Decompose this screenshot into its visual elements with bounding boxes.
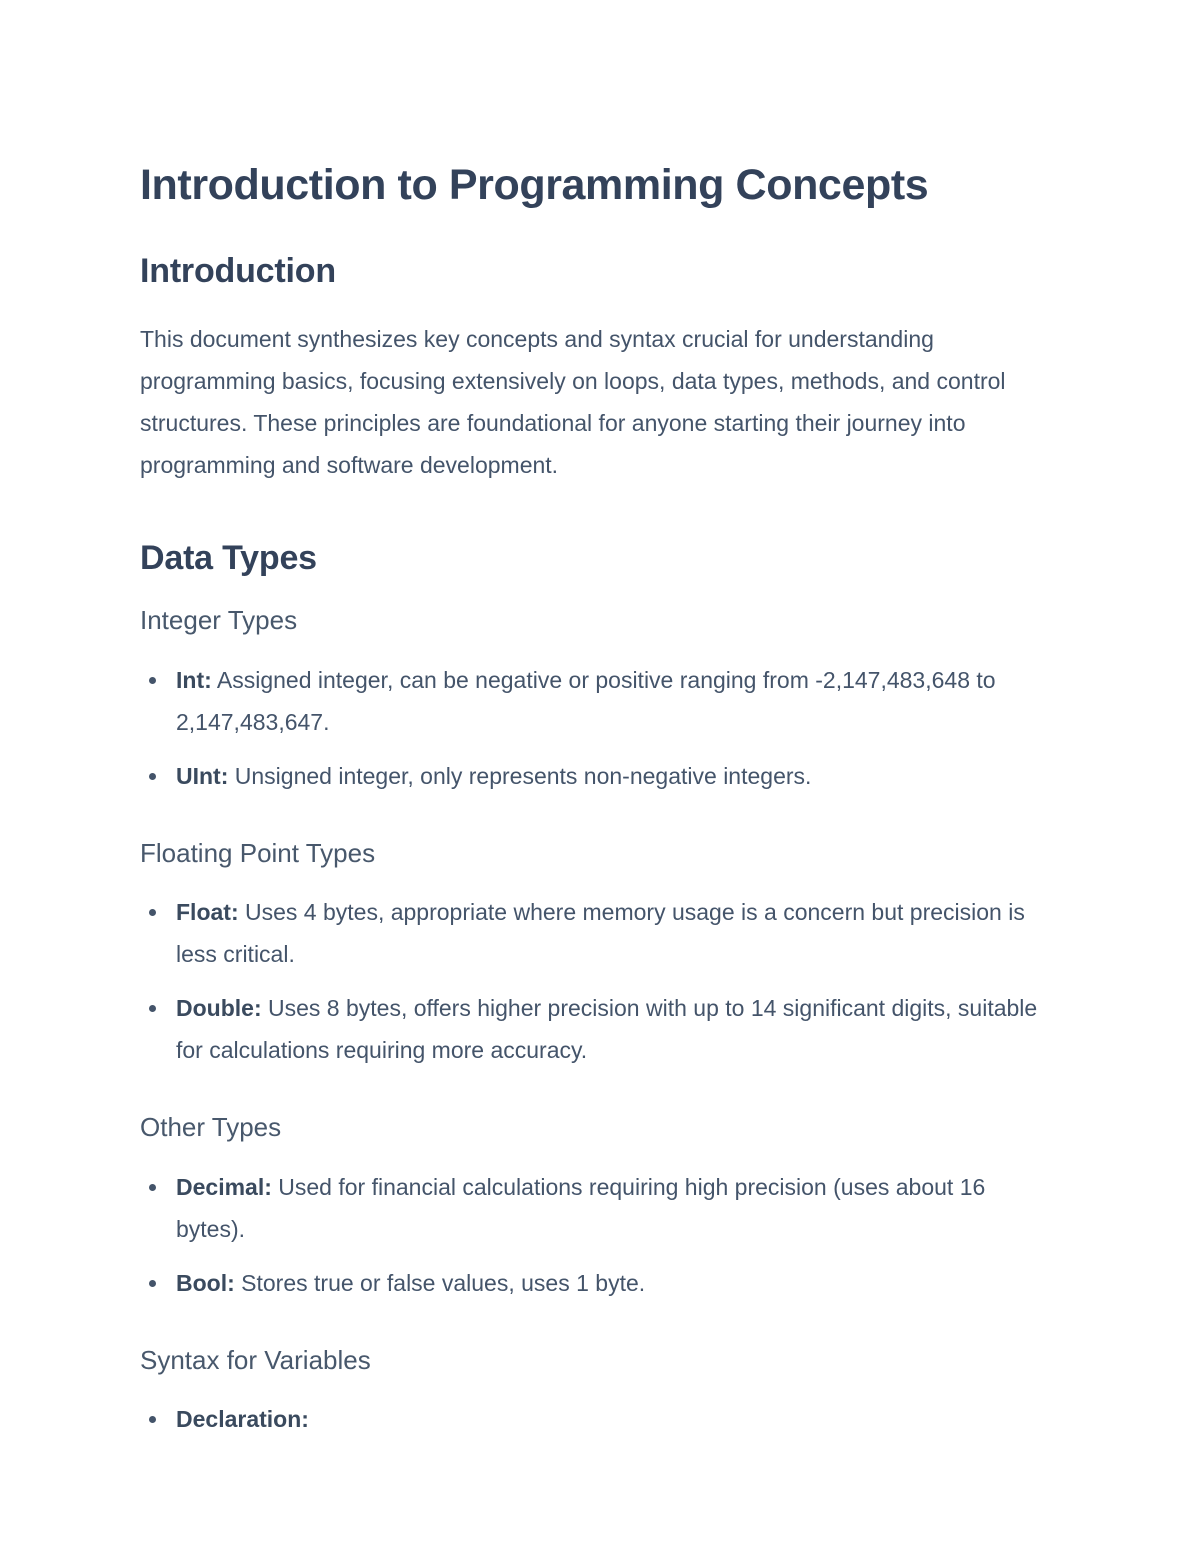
list-item-term: Declaration: [176, 1406, 309, 1432]
bullet-disc-icon [149, 909, 156, 916]
list-syntax-for-variables: Declaration: [140, 1398, 1045, 1440]
list-item: Int: Assigned integer, can be negative o… [140, 659, 1045, 743]
bullet-disc-icon [149, 1184, 156, 1191]
section-heading-data-types: Data Types [140, 538, 1045, 579]
subsection-heading-syntax-for-variables: Syntax for Variables [140, 1344, 1045, 1377]
bullet-disc-icon [149, 1005, 156, 1012]
list-item-text: Uses 8 bytes, offers higher precision wi… [176, 995, 1037, 1063]
introduction-paragraph: This document synthesizes key concepts a… [140, 318, 1045, 486]
list-item-term: Int: [176, 667, 212, 693]
bullet-disc-icon [149, 1416, 156, 1423]
list-item: Float: Uses 4 bytes, appropriate where m… [140, 891, 1045, 975]
subsection-heading-floating-point-types: Floating Point Types [140, 837, 1045, 870]
list-item-text: Used for financial calculations requirin… [176, 1174, 985, 1242]
list-item-term: Decimal: [176, 1174, 272, 1200]
bullet-disc-icon [149, 773, 156, 780]
list-item-term: Float: [176, 899, 239, 925]
list-item-term: Double: [176, 995, 262, 1021]
page-title: Introduction to Programming Concepts [140, 160, 1045, 211]
list-item: Double: Uses 8 bytes, offers higher prec… [140, 987, 1045, 1071]
list-floating-point-types: Float: Uses 4 bytes, appropriate where m… [140, 891, 1045, 1071]
list-integer-types: Int: Assigned integer, can be negative o… [140, 659, 1045, 797]
subsection-heading-other-types: Other Types [140, 1111, 1045, 1144]
list-item-text: Unsigned integer, only represents non-ne… [228, 763, 811, 789]
section-data-types: Data Types Integer Types Int: Assigned i… [140, 538, 1045, 1441]
document-page: Introduction to Programming Concepts Int… [0, 0, 1200, 1553]
list-item-term: Bool: [176, 1270, 235, 1296]
bullet-disc-icon [149, 677, 156, 684]
list-item-text: Uses 4 bytes, appropriate where memory u… [176, 899, 1025, 967]
subsection-heading-integer-types: Integer Types [140, 604, 1045, 637]
list-item-text: Stores true or false values, uses 1 byte… [235, 1270, 645, 1296]
list-item: Decimal: Used for financial calculations… [140, 1166, 1045, 1250]
section-heading-introduction: Introduction [140, 251, 1045, 292]
list-item: Bool: Stores true or false values, uses … [140, 1262, 1045, 1304]
bullet-disc-icon [149, 1280, 156, 1287]
list-other-types: Decimal: Used for financial calculations… [140, 1166, 1045, 1304]
list-item: Declaration: [140, 1398, 1045, 1440]
list-item-text: Assigned integer, can be negative or pos… [176, 667, 996, 735]
list-item: UInt: Unsigned integer, only represents … [140, 755, 1045, 797]
section-introduction: Introduction This document synthesizes k… [140, 251, 1045, 486]
list-item-term: UInt: [176, 763, 228, 789]
